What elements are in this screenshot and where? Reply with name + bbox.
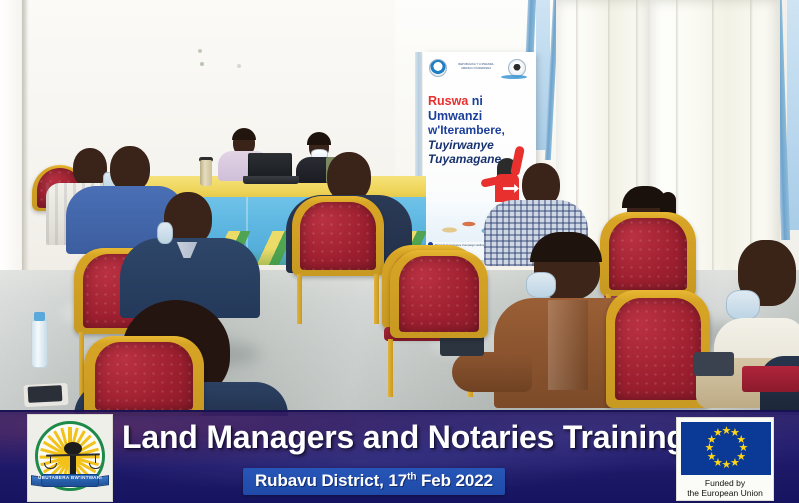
rollup-headline-line2: Umwanzi bbox=[428, 109, 512, 124]
eu-caption-line1: Funded by bbox=[681, 478, 769, 488]
chair-banquet-foreground bbox=[606, 290, 710, 408]
subtitle-ordinal: th bbox=[407, 471, 416, 482]
rwanda-emblem-icon bbox=[429, 59, 447, 77]
logo-ribbon-text: UBUTABERA BW'INTWARI bbox=[31, 475, 109, 480]
travel-tumbler bbox=[200, 160, 212, 186]
wall-mark bbox=[198, 49, 202, 53]
event-subtitle-chip: Rubavu District, 17th Feb 2022 bbox=[243, 468, 505, 495]
eu-caption: Funded by the European Union bbox=[681, 478, 769, 498]
eu-star-icon: ★ bbox=[730, 458, 739, 469]
chair-banquet bbox=[390, 250, 488, 338]
laptop-base bbox=[243, 176, 299, 184]
chair-banquet-foreground bbox=[84, 336, 204, 416]
rollup-banner-header: REPUBULIKA Y'U RWANDA UMWIGO NYARWANDA bbox=[423, 55, 536, 81]
ministry-logo: UBUTABERA BW'INTWARI bbox=[27, 414, 113, 502]
subtitle-prefix: Rubavu District, 17 bbox=[255, 471, 407, 490]
headline-word-ni: ni bbox=[472, 94, 483, 108]
emblem-swoosh bbox=[501, 75, 527, 79]
banner-top-edge bbox=[0, 410, 799, 412]
rollup-header-line2: UMWIGO NYARWANDA bbox=[451, 67, 501, 71]
rollup-headline-line3: w'Iterambere, bbox=[428, 123, 512, 138]
eu-star-icon: ★ bbox=[713, 428, 722, 439]
arm-sleeve bbox=[452, 352, 532, 392]
headline-word-ruswa: Ruswa bbox=[428, 94, 468, 108]
rollup-headline-line1: Ruswa ni bbox=[428, 94, 512, 109]
chair-banquet bbox=[600, 212, 696, 296]
event-subtitle: Rubavu District, 17th Feb 2022 bbox=[255, 471, 493, 491]
wall-mark bbox=[200, 62, 204, 66]
page-title: Land Managers and Notaries Training bbox=[122, 419, 686, 456]
logo-ribbon: UBUTABERA BW'INTWARI bbox=[31, 472, 109, 489]
scale-pan-right bbox=[89, 463, 102, 469]
subtitle-suffix: Feb 2022 bbox=[416, 471, 493, 490]
figure-raised-arm bbox=[510, 145, 525, 176]
chair-banquet bbox=[292, 196, 384, 276]
european-union-flag: ★★★★★★★★★★★★ bbox=[681, 422, 771, 475]
wall-corner-shadow bbox=[22, 0, 29, 300]
curtain-fold bbox=[712, 0, 715, 300]
chair-seat-cushion bbox=[742, 366, 799, 392]
smartphone-in-hand bbox=[694, 352, 734, 376]
rollup-header-text: REPUBULIKA Y'U RWANDA UMWIGO NYARWANDA bbox=[451, 63, 501, 71]
eu-funding-logo: ★★★★★★★★★★★★ Funded by the European Unio… bbox=[676, 417, 774, 501]
eu-caption-line2: the European Union bbox=[681, 488, 769, 498]
screenshot-root: REPUBULIKA Y'U RWANDA UMWIGO NYARWANDA R… bbox=[0, 0, 799, 503]
wall-mark bbox=[237, 64, 241, 68]
window-glass bbox=[787, 0, 799, 230]
